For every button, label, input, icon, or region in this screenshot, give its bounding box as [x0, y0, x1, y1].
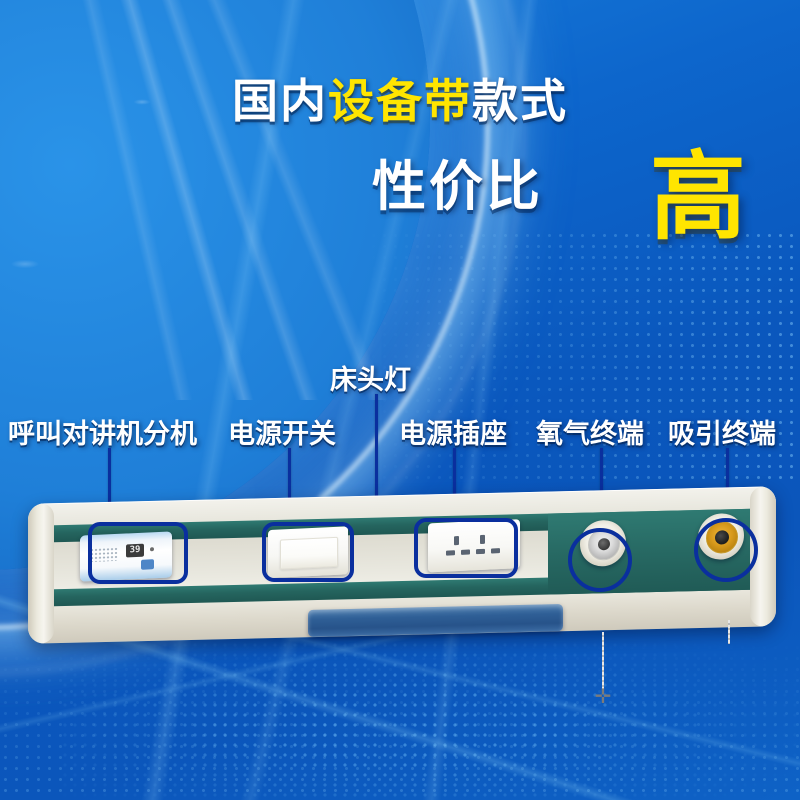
callout-label-bed-head-light: 床头灯: [330, 358, 411, 397]
headline-line-2: 性价比: [372, 160, 543, 214]
callout-label-suction-terminal: 吸引终端: [668, 412, 776, 451]
highlight-box-power-switch: [262, 522, 354, 582]
headline-block: 国内设备带款式: [0, 78, 800, 124]
headline-big-word: 高: [650, 150, 746, 246]
dotted-world-map: [60, 640, 800, 800]
headline-part-2: 款式: [472, 75, 568, 127]
callout-label-oxygen-terminal: 氧气终端: [536, 412, 644, 451]
callout-label-call-intercom: 呼叫对讲机分机: [8, 412, 197, 451]
highlight-box-call-intercom: [88, 522, 188, 584]
pull-cord-pendant-icon: ✛: [592, 686, 614, 708]
suction-pull-cord: [728, 620, 730, 644]
halftone-dots-bottom: [0, 620, 800, 800]
headline-line-1: 国内设备带款式: [0, 78, 800, 124]
highlight-box-power-socket: [414, 518, 518, 578]
callout-label-power-socket: 电源插座: [399, 412, 507, 451]
highlight-circle-oxygen-terminal: [568, 528, 632, 592]
oxygen-pull-cord: [602, 632, 604, 690]
callout-label-power-switch: 电源开关: [228, 412, 336, 451]
headline-highlight: 设备带: [328, 75, 472, 127]
panel-end-cap-left: [28, 503, 54, 644]
highlight-circle-suction-terminal: [694, 518, 758, 582]
headline-part-1: 国内: [232, 75, 328, 127]
product-banner: 国内设备带款式 性价比 高 呼叫对讲机分机 电源开关 床头灯 电源插座 氧气终端…: [0, 0, 800, 800]
